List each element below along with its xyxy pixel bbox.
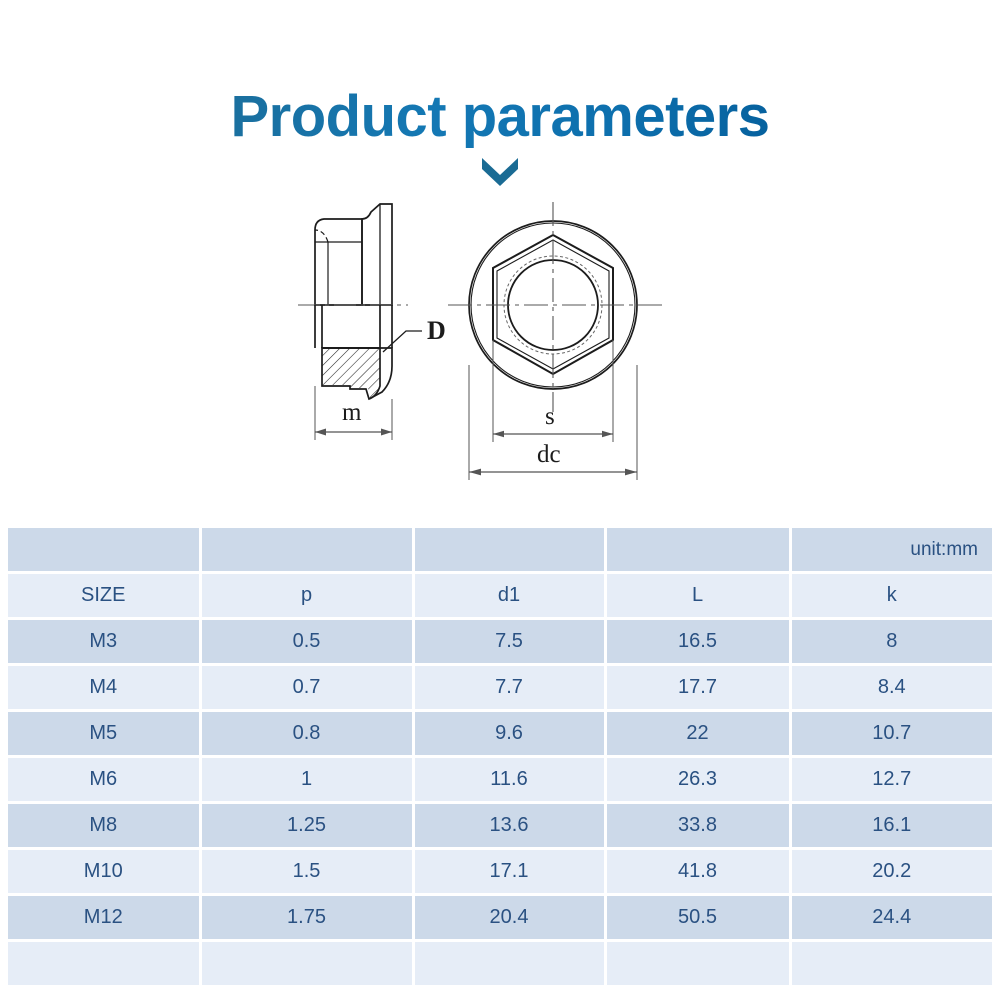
cell-k: 8 (790, 619, 992, 665)
cell-p: 1.75 (200, 895, 413, 941)
table-row-empty (8, 941, 992, 986)
table-header-row: SIZE p d1 L k (8, 573, 992, 619)
cell-size: M4 (8, 665, 200, 711)
cell-l: 16.5 (605, 619, 790, 665)
cell-size: M6 (8, 757, 200, 803)
column-header-l: L (605, 573, 790, 619)
flange-nut-technical-drawing: D m s dc (270, 190, 700, 490)
cell-l: 41.8 (605, 849, 790, 895)
cell-k: 8.4 (790, 665, 992, 711)
cell-k: 20.2 (790, 849, 992, 895)
cell-size: M3 (8, 619, 200, 665)
cell-d1: 7.7 (413, 665, 605, 711)
spec-table-wrap: unit:mm SIZE p d1 L k M3 0.5 7.5 16.5 8 (8, 528, 992, 985)
cell-k: 16.1 (790, 803, 992, 849)
table-row: M3 0.5 7.5 16.5 8 (8, 619, 992, 665)
cell-p: 1.25 (200, 803, 413, 849)
column-header-size: SIZE (8, 573, 200, 619)
cell-d1: 11.6 (413, 757, 605, 803)
cell-size: M10 (8, 849, 200, 895)
spec-table: unit:mm SIZE p d1 L k M3 0.5 7.5 16.5 8 (8, 528, 992, 985)
column-header-d1: d1 (413, 573, 605, 619)
cell-l: 33.8 (605, 803, 790, 849)
unit-row-spacer-4 (605, 528, 790, 573)
column-header-k: k (790, 573, 992, 619)
table-row: M8 1.25 13.6 33.8 16.1 (8, 803, 992, 849)
column-header-p: p (200, 573, 413, 619)
cell-l: 17.7 (605, 665, 790, 711)
chevron-down-icon-wrap (0, 156, 1000, 188)
table-row: M12 1.75 20.4 50.5 24.4 (8, 895, 992, 941)
label-s: s (545, 403, 555, 430)
cell-d1 (413, 941, 605, 986)
label-D: D (427, 316, 446, 345)
cell-k: 12.7 (790, 757, 992, 803)
cell-size (8, 941, 200, 986)
unit-row-spacer-2 (200, 528, 413, 573)
cell-p: 0.8 (200, 711, 413, 757)
cell-size: M12 (8, 895, 200, 941)
cell-d1: 9.6 (413, 711, 605, 757)
unit-label: unit:mm (790, 528, 992, 573)
table-row: M4 0.7 7.7 17.7 8.4 (8, 665, 992, 711)
cell-p: 0.7 (200, 665, 413, 711)
table-row: M10 1.5 17.1 41.8 20.2 (8, 849, 992, 895)
cell-d1: 13.6 (413, 803, 605, 849)
cell-k: 10.7 (790, 711, 992, 757)
cell-l: 50.5 (605, 895, 790, 941)
cell-p: 1 (200, 757, 413, 803)
cell-d1: 17.1 (413, 849, 605, 895)
cell-size: M5 (8, 711, 200, 757)
unit-row-spacer-3 (413, 528, 605, 573)
cell-size: M8 (8, 803, 200, 849)
table-row: M6 1 11.6 26.3 12.7 (8, 757, 992, 803)
cell-l: 26.3 (605, 757, 790, 803)
chevron-down-icon (479, 156, 521, 188)
cell-p (200, 941, 413, 986)
cell-d1: 20.4 (413, 895, 605, 941)
page-title: Product parameters (231, 86, 770, 148)
cell-k: 24.4 (790, 895, 992, 941)
cell-p: 0.5 (200, 619, 413, 665)
table-unit-row: unit:mm (8, 528, 992, 573)
cell-k (790, 941, 992, 986)
flange-nut-drawing-svg: D m s dc (270, 190, 700, 490)
cell-l (605, 941, 790, 986)
unit-row-spacer-1 (8, 528, 200, 573)
table-row: M5 0.8 9.6 22 10.7 (8, 711, 992, 757)
cell-d1: 7.5 (413, 619, 605, 665)
label-dc: dc (537, 441, 561, 468)
product-parameters-page: Product parameters (0, 0, 1000, 1000)
label-m: m (342, 399, 362, 426)
cell-p: 1.5 (200, 849, 413, 895)
cell-l: 22 (605, 711, 790, 757)
page-title-block: Product parameters (0, 86, 1000, 148)
